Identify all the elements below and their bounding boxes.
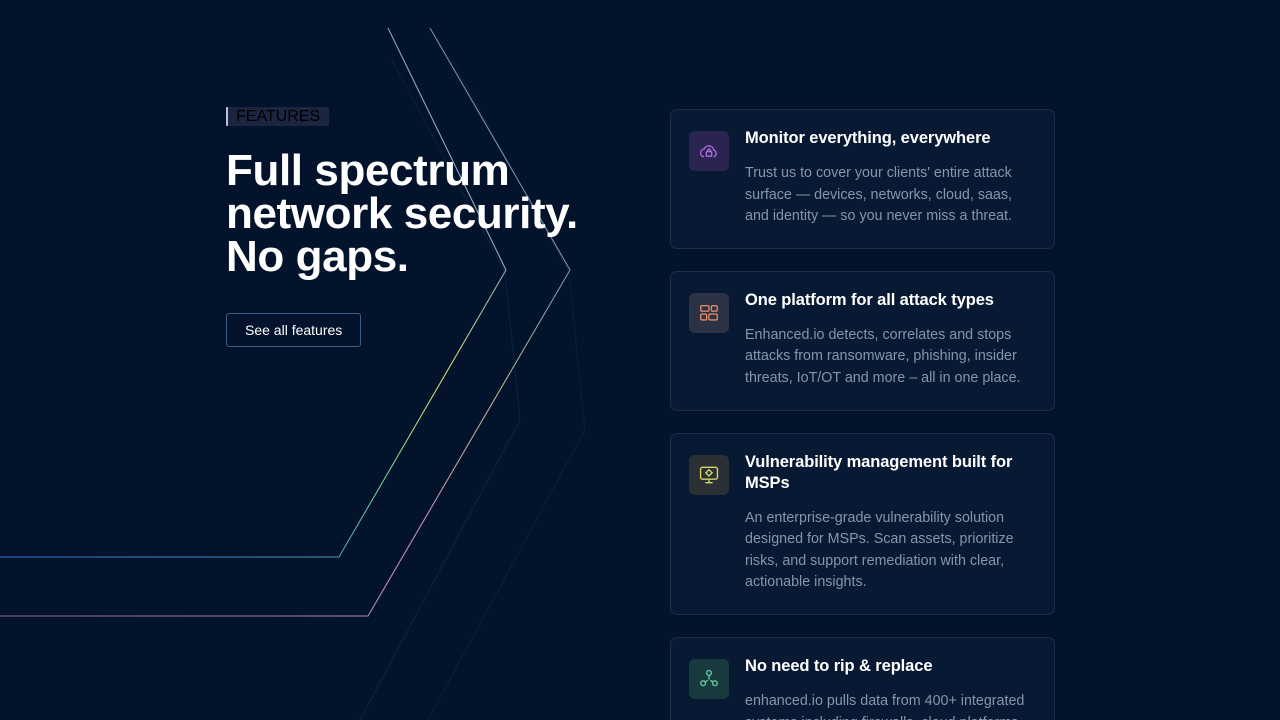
- card-icon-container: [689, 455, 729, 495]
- card-description: An enterprise-grade vulnerability soluti…: [745, 508, 1035, 594]
- card-body: No need to rip & replace enhanced.io pul…: [745, 656, 1035, 720]
- card-description: enhanced.io pulls data from 400+ integra…: [745, 691, 1035, 720]
- feature-card[interactable]: Monitor everything, everywhere Trust us …: [670, 109, 1055, 249]
- see-all-features-button[interactable]: See all features: [226, 313, 361, 347]
- card-icon-container: [689, 659, 729, 699]
- feature-card[interactable]: One platform for all attack types Enhanc…: [670, 271, 1055, 411]
- eyebrow-label: FEATURES: [236, 108, 320, 126]
- card-title: One platform for all attack types: [745, 290, 1035, 311]
- feature-cards-list: Monitor everything, everywhere Trust us …: [670, 109, 1055, 720]
- feature-card[interactable]: No need to rip & replace enhanced.io pul…: [670, 637, 1055, 720]
- hero-column: FEATURES Full spectrum network security.…: [226, 107, 626, 347]
- card-title: Vulnerability management built for MSPs: [745, 452, 1035, 494]
- card-title: Monitor everything, everywhere: [745, 128, 1035, 149]
- dashboard-layout-icon: [698, 302, 720, 324]
- monitor-vulnerability-icon: [698, 464, 720, 486]
- card-body: Monitor everything, everywhere Trust us …: [745, 128, 1035, 228]
- card-description: Enhanced.io detects, correlates and stop…: [745, 325, 1035, 390]
- features-section: FEATURES Full spectrum network security.…: [0, 0, 1280, 720]
- eyebrow-badge: FEATURES: [226, 107, 329, 126]
- card-description: Trust us to cover your clients' entire a…: [745, 163, 1035, 228]
- feature-card[interactable]: Vulnerability management built for MSPs …: [670, 433, 1055, 615]
- card-body: One platform for all attack types Enhanc…: [745, 290, 1035, 390]
- card-icon-container: [689, 131, 729, 171]
- card-title: No need to rip & replace: [745, 656, 1035, 677]
- card-icon-container: [689, 293, 729, 333]
- network-nodes-icon: [698, 668, 720, 690]
- cloud-lock-icon: [698, 140, 720, 162]
- card-body: Vulnerability management built for MSPs …: [745, 452, 1035, 594]
- page-title: Full spectrum network security. No gaps.: [226, 149, 626, 278]
